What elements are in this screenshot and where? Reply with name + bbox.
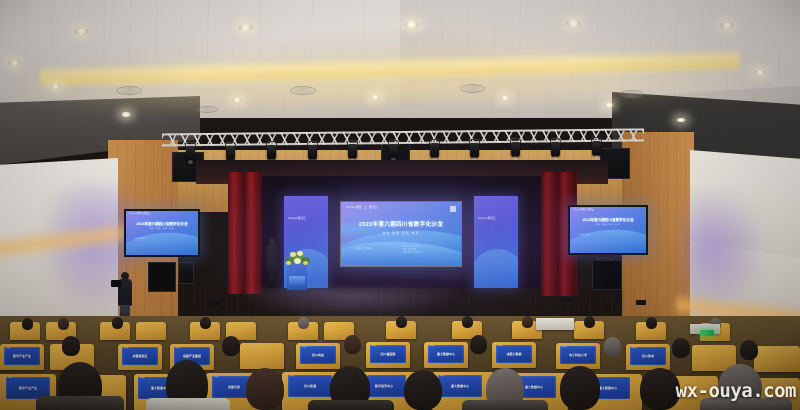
stage-light-fixture bbox=[551, 142, 560, 157]
stage-light-fixture bbox=[389, 144, 398, 159]
audience-head bbox=[640, 368, 680, 410]
audience-head bbox=[672, 338, 690, 358]
placard-org-name: 成都高新区 bbox=[122, 355, 158, 358]
placard-org-name: 数字产业产业 bbox=[4, 355, 40, 358]
stage-light-fixture bbox=[308, 145, 317, 160]
screen-footer-left: 主办单位: 腾讯云 bbox=[355, 248, 372, 250]
seat-placard: 腾讯云 成都高新区 bbox=[122, 347, 158, 365]
downlight-icon bbox=[370, 95, 380, 99]
placard-org-name: 重大数据中心 bbox=[438, 385, 482, 388]
seat-placard: 腾讯云 四川省国资 bbox=[370, 345, 406, 363]
audience-head bbox=[462, 316, 473, 328]
side-screen-right-footer: 主办单位: 腾讯云 bbox=[578, 235, 590, 237]
downlight-icon bbox=[720, 22, 734, 29]
watermark-text: wx-ouya.com bbox=[676, 380, 796, 402]
downlight-icon bbox=[676, 118, 686, 122]
audience-head bbox=[200, 317, 211, 329]
downlight-icon bbox=[121, 112, 131, 117]
downlight-icon bbox=[238, 24, 253, 31]
banner-left-logo: Tencent 腾讯云 bbox=[288, 218, 306, 221]
banner-right-logo: Tencent 腾讯云 bbox=[478, 218, 496, 221]
seat-placard: 腾讯云 四川电信 bbox=[300, 346, 336, 364]
seat-placard: 腾讯云 四川联通 bbox=[288, 375, 332, 397]
audience-seat bbox=[240, 343, 284, 369]
placard-org-name: 四川省国资 bbox=[370, 353, 406, 356]
audience-head bbox=[740, 340, 758, 360]
placard-org-name: 四川移动 bbox=[630, 355, 666, 358]
placard-org-name: 成都产业集团 bbox=[174, 355, 210, 358]
placard-org-name: 成都大数据 bbox=[496, 353, 532, 356]
placard-org-name: 重大数据中心 bbox=[428, 353, 464, 356]
podium-graphic-panel bbox=[289, 276, 305, 285]
placard-org-name: 电子科技大学 bbox=[560, 354, 596, 357]
ceiling-vent bbox=[620, 90, 644, 98]
placard-logo: 腾讯云 bbox=[290, 376, 295, 378]
placard-logo: 腾讯云 bbox=[124, 348, 129, 350]
audience-head bbox=[298, 317, 309, 329]
screen-logo-bar: Tencent 腾讯 腾讯云 bbox=[346, 205, 456, 211]
downlight-icon bbox=[8, 60, 21, 66]
audience-shoulders bbox=[36, 396, 124, 410]
screen-title: 2023年第六期四川省数字化沙龙 bbox=[341, 223, 461, 229]
placard-logo: 腾讯云 bbox=[372, 346, 377, 348]
downlight-icon bbox=[50, 84, 61, 89]
video-camera-icon bbox=[111, 280, 121, 287]
side-screen-left-title: 2023年第六期四川省数字化沙龙 bbox=[126, 223, 198, 227]
auditorium-photo: Tencent 腾讯云 Tencent 腾讯云 Tencent 腾讯 腾讯云 2… bbox=[0, 0, 800, 410]
placard-org-name: 四川电信 bbox=[300, 354, 336, 357]
downlight-icon bbox=[754, 70, 766, 75]
presenter-torso bbox=[267, 244, 277, 270]
placard-org-name: 数字产业产业 bbox=[6, 387, 50, 390]
placard-org-name: 四川联通 bbox=[288, 385, 332, 388]
seat-placard: 腾讯云 四川移动 bbox=[630, 347, 666, 365]
downlight-icon bbox=[404, 21, 419, 28]
downlight-icon bbox=[74, 28, 89, 35]
ceiling-vent bbox=[460, 84, 485, 93]
stage-light-fixture bbox=[592, 141, 601, 156]
seat-placard: 腾讯云 重大数据中心 bbox=[438, 375, 482, 397]
stage-floor-monitor bbox=[560, 296, 572, 301]
audience-shoulders bbox=[146, 398, 230, 410]
placard-logo: 腾讯云 bbox=[440, 376, 445, 378]
placard-logo: 腾讯云 bbox=[6, 348, 11, 350]
rear-equipment-table bbox=[536, 318, 574, 330]
side-screen-right-subtitle: 数智 赋能 创新 未来 bbox=[570, 225, 646, 227]
downlight-icon bbox=[232, 98, 242, 102]
ceiling-vent bbox=[116, 86, 142, 95]
audience-head bbox=[246, 368, 284, 410]
audience-seat bbox=[136, 322, 166, 340]
audience-head bbox=[584, 316, 595, 328]
screen-logo-separator bbox=[365, 206, 366, 210]
audience-head bbox=[22, 318, 33, 330]
audience-head bbox=[62, 336, 80, 356]
side-screen-left-footer: 主办单位: 腾讯云 bbox=[134, 239, 146, 241]
placard-logo: 腾讯云 bbox=[430, 346, 435, 348]
placard-logo: 腾讯云 bbox=[302, 347, 307, 349]
floral-arrangement bbox=[281, 249, 313, 267]
side-screen-right-logo: Tencent 腾讯 | 腾讯云 bbox=[573, 209, 594, 211]
audience-shoulders bbox=[462, 400, 548, 410]
ceiling-vent bbox=[196, 106, 218, 113]
seat-placard: 腾讯云 数字产业产业 bbox=[4, 347, 40, 365]
audience-head bbox=[604, 337, 621, 356]
exit-sign-icon bbox=[700, 330, 714, 336]
side-screen-right: Tencent 腾讯 | 腾讯云 2023年第六期四川省数字化沙龙 数智 赋能 … bbox=[568, 205, 648, 255]
side-screen-left-subtitle: 数智 赋能 创新 未来 bbox=[126, 229, 198, 231]
audience-head bbox=[396, 316, 407, 328]
screen-footer-line3: 承办: 数字经济发展中心 bbox=[403, 252, 424, 255]
screen-logo-left: Tencent 腾讯 bbox=[346, 207, 362, 210]
wall-violet-light-right bbox=[684, 190, 762, 308]
ceiling-vent bbox=[290, 86, 316, 95]
placard-logo: 腾讯云 bbox=[498, 346, 503, 348]
presenter-speaker bbox=[266, 238, 277, 288]
stage-floor-monitor bbox=[636, 300, 646, 305]
audience-head bbox=[344, 335, 361, 354]
side-screen-left-logo: Tencent 腾讯 | 腾讯云 bbox=[129, 213, 150, 215]
stage-light-fixture bbox=[511, 142, 520, 157]
audience-head bbox=[404, 370, 442, 410]
wall-speaker-box bbox=[178, 262, 194, 284]
downlight-icon bbox=[566, 20, 581, 27]
audience-head bbox=[522, 316, 533, 328]
audience-head bbox=[58, 318, 69, 330]
audience-seat bbox=[754, 346, 800, 372]
audience-head bbox=[560, 366, 600, 410]
qr-code-icon bbox=[450, 206, 456, 212]
side-screen-left: Tencent 腾讯 | 腾讯云 2023年第六期四川省数字化沙龙 数智 赋能 … bbox=[124, 209, 200, 257]
stage-light-fixture bbox=[267, 145, 276, 160]
audience-head bbox=[470, 335, 487, 354]
audience-head bbox=[222, 336, 240, 356]
placard-logo: 腾讯云 bbox=[562, 347, 567, 349]
stage-floor-monitor bbox=[208, 300, 220, 305]
stage-banner-right: Tencent 腾讯云 bbox=[474, 196, 518, 288]
side-screen-right-title: 2023年第六期四川省数字化沙龙 bbox=[570, 219, 646, 223]
stage-light-fixture bbox=[186, 146, 195, 161]
screen-footer-right: 时间: 2023年11月 地点: 四川成都 承办: 数字经济发展中心 bbox=[403, 246, 424, 255]
placard-logo: 腾讯云 bbox=[214, 377, 219, 379]
seat-placard: 腾讯云 电子科技大学 bbox=[560, 346, 596, 364]
audience-head bbox=[112, 317, 123, 329]
presenter-legs bbox=[269, 269, 275, 288]
downlight-icon bbox=[604, 103, 614, 107]
stage-light-fixture bbox=[226, 146, 235, 161]
seat-placard: 腾讯云 成都大数据 bbox=[496, 345, 532, 363]
stage-light-fixture bbox=[470, 143, 479, 158]
main-projection-screen: Tencent 腾讯 腾讯云 2023年第六期四川省数字化沙龙 数智 赋能 创新… bbox=[340, 201, 462, 267]
placard-logo: 腾讯云 bbox=[176, 348, 181, 350]
screen-logo-right: 腾讯云 bbox=[369, 207, 377, 210]
audience-shoulders bbox=[308, 400, 394, 410]
screen-subtitle: 数智 赋能 创新 未来 bbox=[341, 232, 461, 235]
downlight-icon bbox=[500, 96, 510, 100]
stage-light-fixture bbox=[430, 143, 439, 158]
stage-light-fixture bbox=[348, 144, 357, 159]
stage-curtain-left bbox=[228, 172, 262, 294]
placard-logo: 腾讯云 bbox=[8, 378, 13, 380]
audience-head bbox=[646, 317, 657, 329]
seat-placard: 腾讯云 重大数据中心 bbox=[428, 345, 464, 363]
placard-logo: 腾讯云 bbox=[140, 378, 145, 380]
placard-logo: 腾讯云 bbox=[632, 348, 637, 350]
